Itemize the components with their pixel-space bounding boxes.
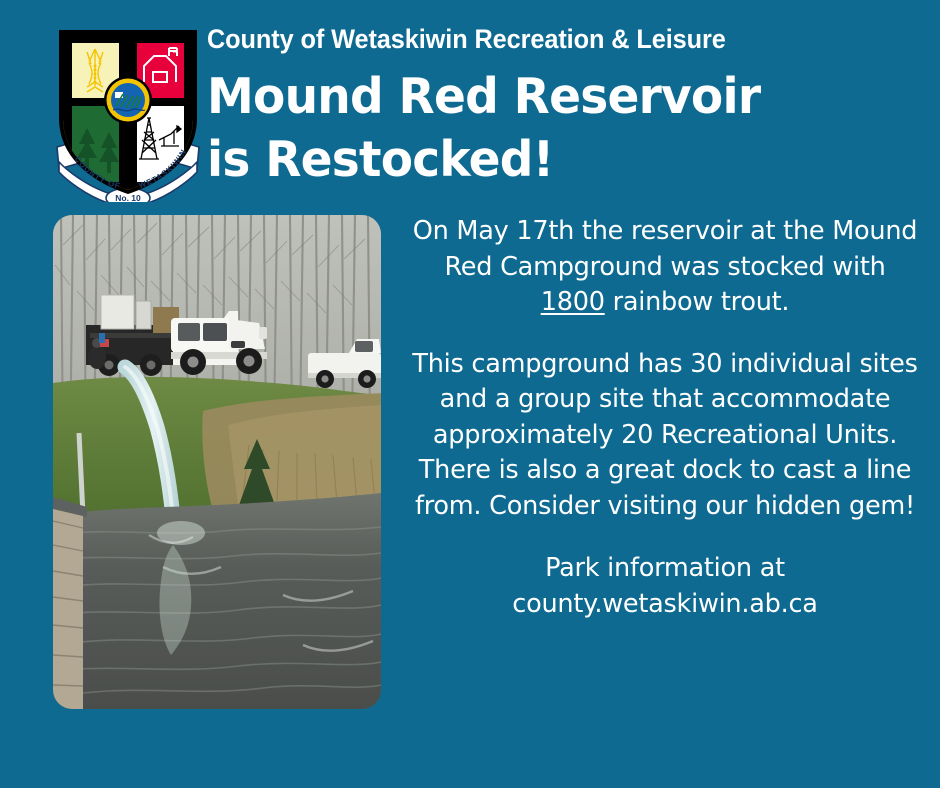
park-info-website: county.wetaskiwin.ab.ca xyxy=(512,589,817,619)
body-copy-block: On May 17th the reservoir at the Mound R… xyxy=(404,214,926,622)
county-coat-of-arms: COUNTY OF WETASKIWIN No. 10 xyxy=(53,22,203,202)
header-text-block: County of Wetaskiwin Recreation & Leisur… xyxy=(207,23,907,192)
page-title-line-2: is Restocked! xyxy=(207,129,879,192)
reservoir-restocking-photo xyxy=(53,215,381,709)
paragraph-stocking-details: On May 17th the reservoir at the Mound R… xyxy=(411,214,920,321)
poster-header: COUNTY OF WETASKIWIN No. 10 County of We… xyxy=(0,0,940,205)
organization-name: County of Wetaskiwin Recreation & Leisur… xyxy=(207,23,876,56)
park-info-label: Park information at xyxy=(545,553,785,583)
crest-center-roundel xyxy=(104,76,152,124)
trout-count-highlight: 1800 xyxy=(541,287,605,317)
paragraph-park-information: Park information at county.wetaskiwin.ab… xyxy=(411,551,920,622)
page-title-line-1: Mound Red Reservoir xyxy=(207,66,879,129)
wooden-dock xyxy=(53,497,87,709)
reservoir-water xyxy=(53,493,381,709)
poster-canvas: COUNTY OF WETASKIWIN No. 10 County of We… xyxy=(0,0,940,788)
crest-banner-center-text: No. 10 xyxy=(115,193,141,202)
paragraph-1-before: On May 17th the reservoir at the Mound R… xyxy=(413,216,917,282)
paragraph-campground-details: This campground has 30 individual sites … xyxy=(411,347,920,525)
paragraph-1-after: rainbow trout. xyxy=(605,287,790,317)
